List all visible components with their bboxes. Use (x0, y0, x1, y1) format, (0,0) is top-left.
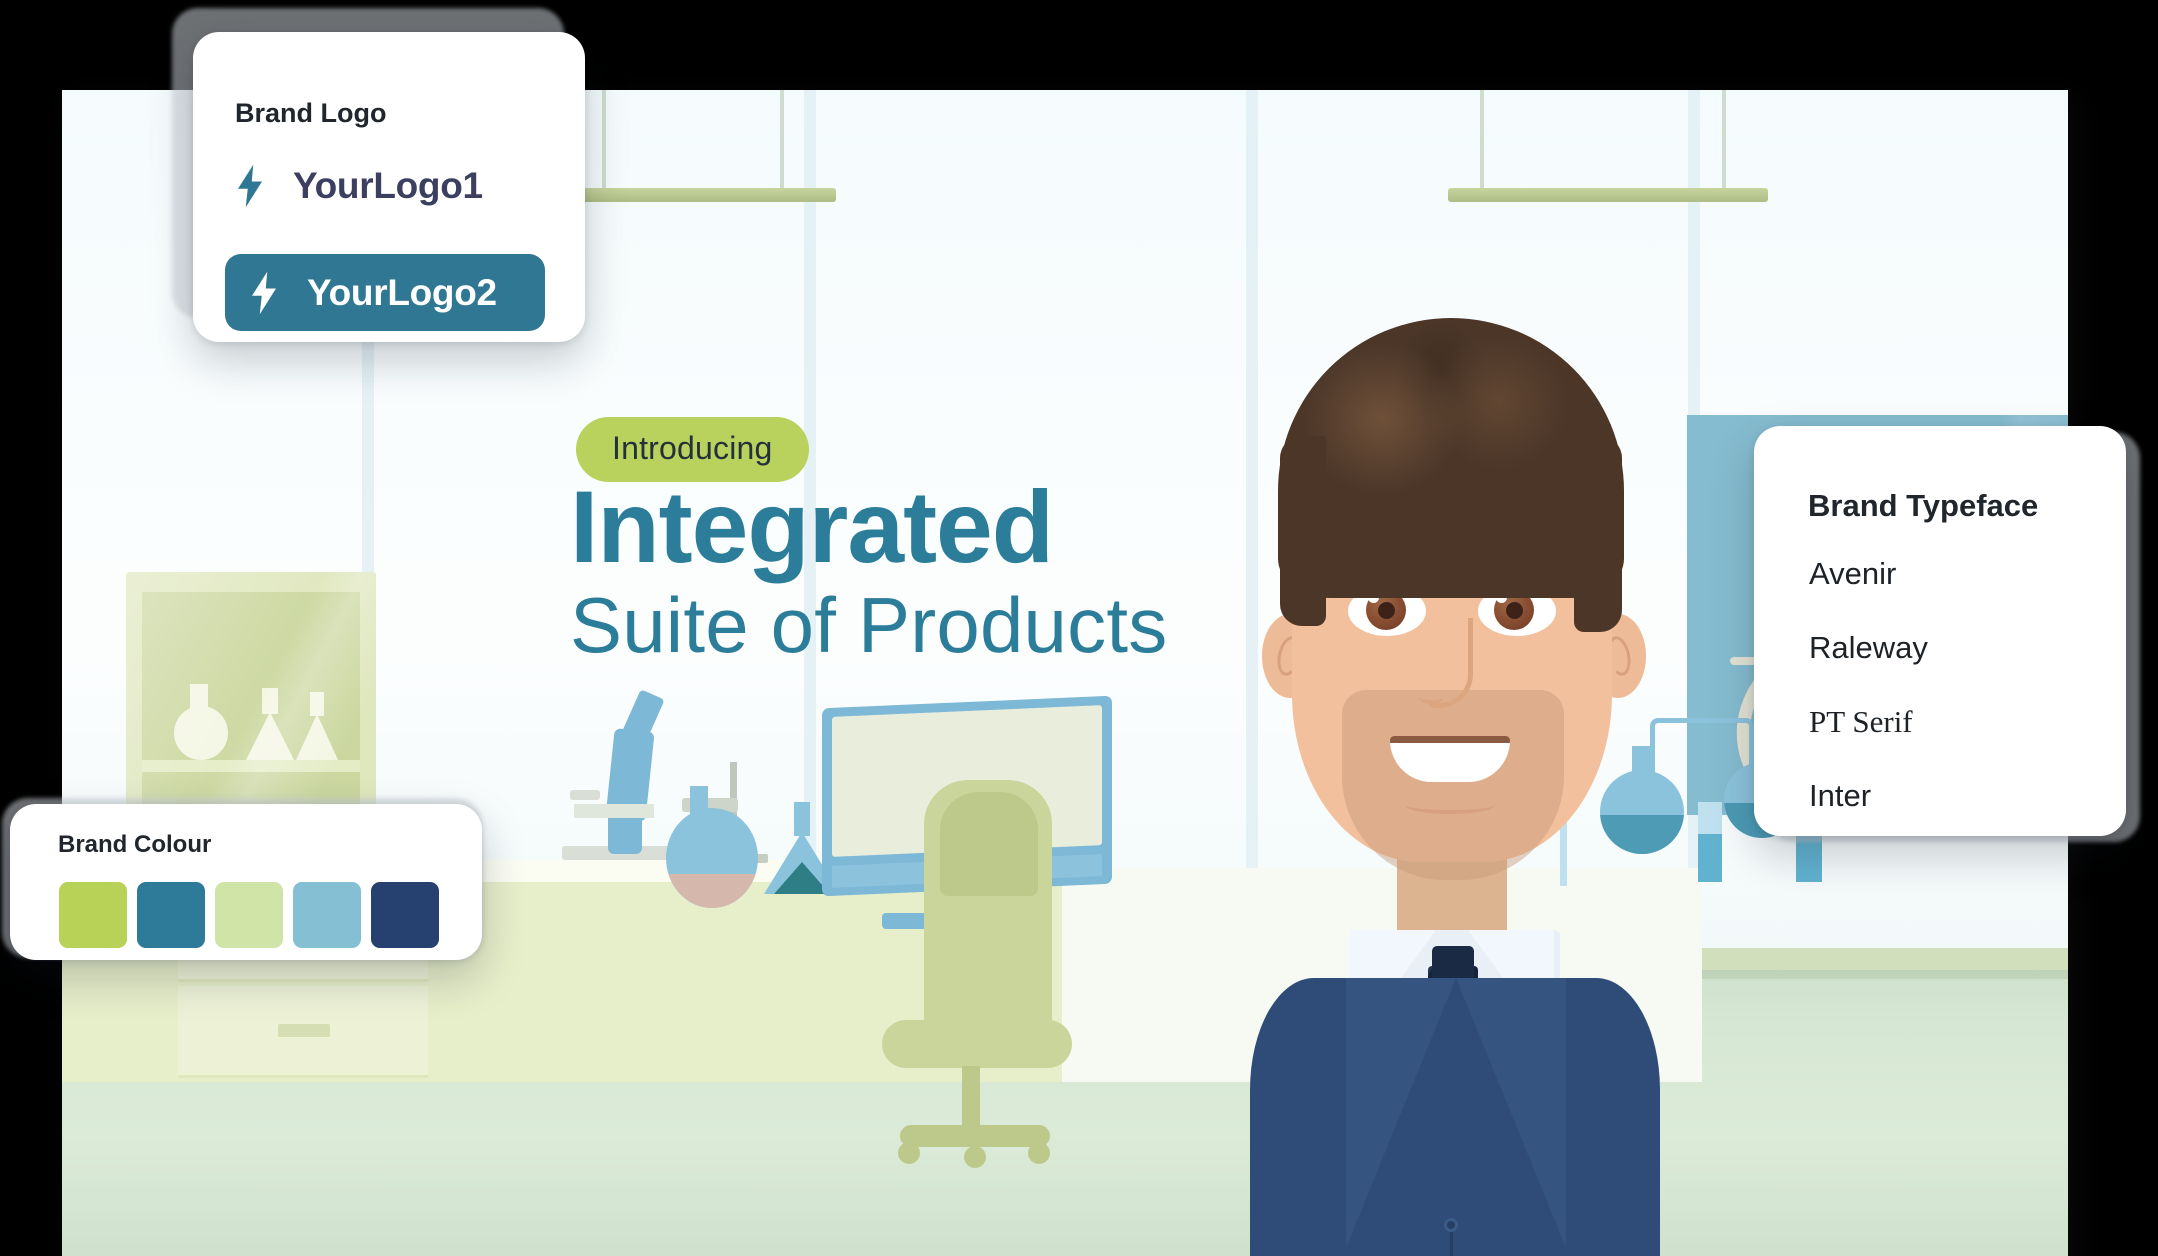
brand-logo-card: Brand Logo YourLogo1 YourLogo2 (193, 32, 585, 342)
avatar-jacket-button (1444, 1218, 1458, 1232)
chair-wheel (964, 1146, 986, 1168)
office-chair-back-highlight (940, 792, 1038, 896)
brand-colour-swatch-list (59, 882, 439, 948)
brand-typeface-list: Avenir Raleway PT Serif Inter (1809, 556, 1928, 852)
drawer-handle[interactable] (278, 1024, 330, 1037)
bolt-icon (235, 164, 265, 208)
avatar-beard-shadow (1342, 690, 1564, 880)
office-chair-seat (882, 1020, 1072, 1068)
avatar-sideburn-left (1280, 436, 1326, 626)
brand-colour-card-title: Brand Colour (58, 831, 211, 859)
typeface-option-pt-serif[interactable]: PT Serif (1809, 704, 1928, 740)
swatch-navy[interactable] (371, 882, 439, 948)
avatar-pupil-right (1506, 602, 1523, 619)
lamp-wire (1480, 90, 1484, 190)
avatar-tie-knot (1432, 946, 1474, 982)
presenter-avatar (1242, 318, 1662, 1256)
headline-line-2: Suite of Products (570, 582, 1167, 669)
chair-wheel (1028, 1142, 1050, 1164)
lamp-wire (1722, 90, 1726, 190)
bolt-icon (249, 271, 279, 315)
avatar-lapel-right (1456, 978, 1566, 1248)
hanging-lamp (546, 188, 836, 202)
typeface-option-avenir[interactable]: Avenir (1809, 556, 1928, 592)
microscope-stage (574, 804, 654, 818)
beaker-neck (794, 802, 810, 836)
avatar-lapel-left (1346, 978, 1456, 1248)
hanging-lamp (1448, 188, 1768, 202)
office-chair-legs (900, 1125, 1050, 1147)
screenshot-root: Introducing Integrated Suite of Products (0, 0, 2158, 1256)
round-bottom-flask (666, 808, 758, 908)
avatar-nostril (1418, 690, 1444, 704)
brand-colour-card: Brand Colour (10, 804, 482, 960)
brand-typeface-card: Brand Typeface Avenir Raleway PT Serif I… (1754, 426, 2126, 836)
lamp-wire (602, 90, 606, 190)
typeface-option-raleway[interactable]: Raleway (1809, 630, 1928, 666)
swatch-light-blue[interactable] (293, 882, 361, 948)
chair-wheel (898, 1142, 920, 1164)
flask-neck (690, 786, 708, 822)
avatar-sideburn-right (1574, 436, 1622, 632)
swatch-teal[interactable] (137, 882, 205, 948)
headline-line-1: Integrated (570, 472, 1053, 582)
avatar-hair (1278, 318, 1624, 598)
microscope-knob (570, 790, 600, 800)
avatar-chin-crease (1405, 796, 1495, 814)
cylinder-liquid (1698, 834, 1722, 882)
avatar-pupil-left (1378, 602, 1395, 619)
brand-typeface-card-title: Brand Typeface (1808, 488, 2038, 524)
brand-logo-option-2-label: YourLogo2 (307, 272, 497, 314)
flask-liquid (666, 874, 758, 908)
swatch-light-green[interactable] (215, 882, 283, 948)
typeface-option-inter[interactable]: Inter (1809, 778, 1928, 814)
lamp-wire (780, 90, 784, 190)
brand-logo-option-2[interactable]: YourLogo2 (225, 254, 545, 331)
brand-logo-option-1[interactable]: YourLogo1 (235, 164, 483, 208)
swatch-yellow-green[interactable] (59, 882, 127, 948)
brand-logo-card-title: Brand Logo (235, 98, 386, 129)
avatar-hair-highlights (1278, 318, 1624, 598)
brand-logo-option-1-label: YourLogo1 (293, 165, 483, 207)
